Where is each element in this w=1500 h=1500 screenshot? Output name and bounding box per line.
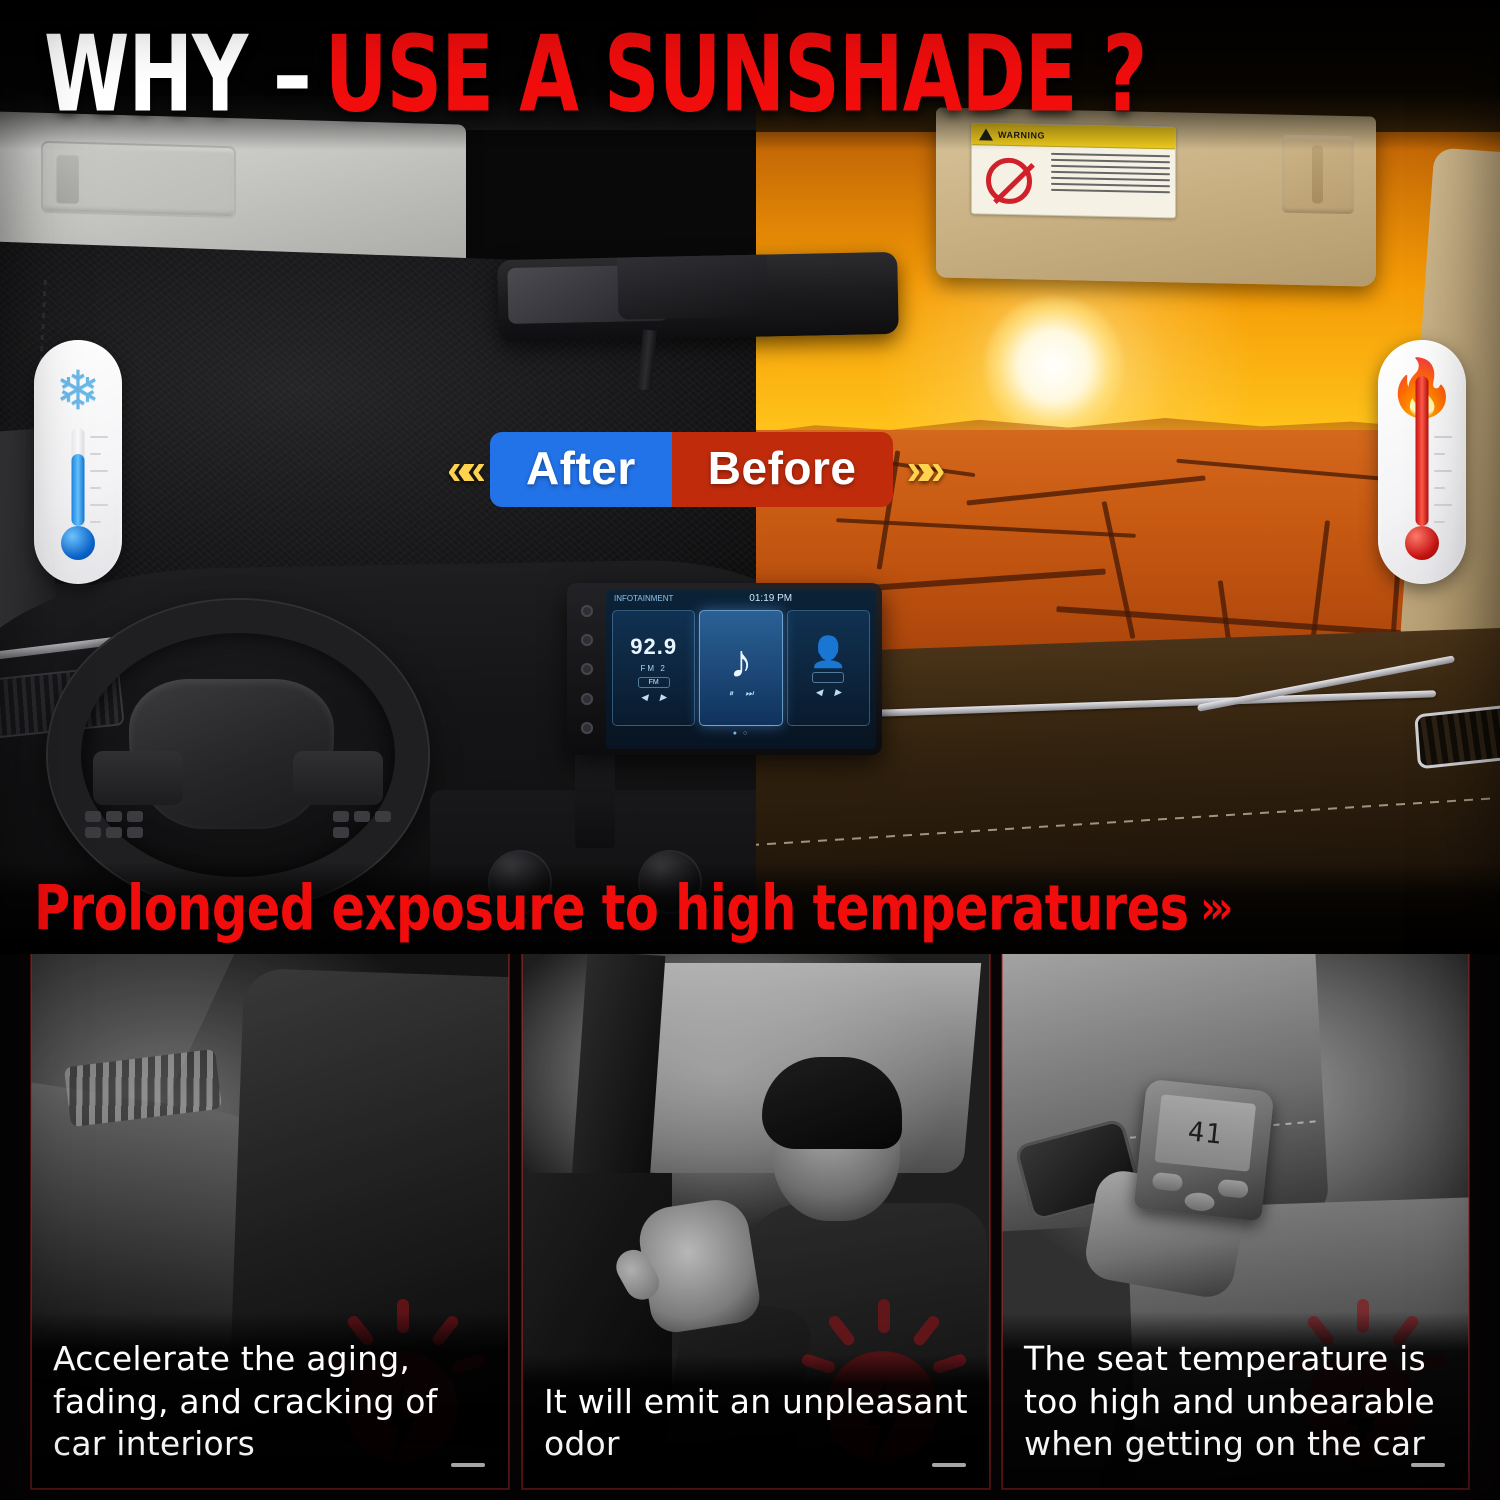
steering-buttons-right	[333, 811, 391, 838]
head-unit-mount	[575, 753, 615, 848]
person-icon: 👤	[810, 638, 847, 668]
after-badge[interactable]: After	[490, 432, 672, 507]
sun	[984, 296, 1124, 436]
head-unit-statusbar: INFOTAINMENT 01:19 PM	[606, 590, 876, 604]
cold-thermometer: ❄	[34, 340, 122, 584]
person-hand	[635, 1195, 763, 1336]
chevron-left-icon: ««	[447, 445, 490, 495]
caption-dash	[932, 1463, 966, 1467]
media-controls[interactable]: ⏸ ⏭	[729, 688, 754, 699]
phone-controls[interactable]: ◀ ▶	[815, 687, 841, 698]
media-skip-icon[interactable]: ⏭	[745, 688, 753, 699]
phone-prev-icon[interactable]: ◀	[815, 687, 822, 698]
infrared-thermometer: 41	[1134, 1079, 1275, 1222]
before-badge[interactable]: Before	[672, 432, 893, 507]
panel-seat-temperature: 41 The seat temperature is too high and …	[1001, 952, 1470, 1490]
radio-next-icon[interactable]: ▶	[660, 692, 667, 703]
thermometer-mode-button[interactable]	[1184, 1191, 1216, 1212]
hu-brand: INFOTAINMENT	[614, 594, 673, 603]
visor-mirror-cover	[41, 141, 236, 218]
radio-preset-chip[interactable]: FM	[638, 677, 670, 688]
thermometer-button-right[interactable]	[1217, 1179, 1249, 1199]
panel-aging-fading-cracking: Accelerate the aging, fading, and cracki…	[30, 952, 510, 1490]
headline: WHY – USE A SUNSHADE ?	[0, 0, 1500, 150]
hot-thermometer: 🔥	[1378, 340, 1466, 584]
air-vent-right	[1414, 698, 1500, 769]
media-card[interactable]: ♪ ⏸ ⏭	[699, 610, 782, 726]
thermometer-reading: 41	[1186, 1116, 1224, 1150]
headline-red: USE A SUNSHADE ?	[325, 14, 1147, 136]
before-after-pill[interactable]: After Before	[490, 432, 893, 507]
dashboard-stitching	[756, 797, 1496, 848]
hu-button-menu[interactable]	[581, 663, 593, 675]
thermometer-bulb-cold	[61, 526, 95, 560]
radio-card[interactable]: 92.9 FM 2 FM ◀ ▶	[612, 610, 695, 726]
media-pause-icon[interactable]: ⏸	[729, 688, 734, 699]
page-indicator-dots: ● ○	[606, 730, 876, 737]
thermometer-lcd: 41	[1154, 1094, 1256, 1172]
head-unit-side-buttons[interactable]	[574, 590, 600, 749]
chrome-trim-right-angled	[1197, 655, 1455, 712]
before-after-toggle[interactable]: «« After Before »»	[447, 432, 935, 507]
phone-chip[interactable]	[812, 672, 844, 683]
radio-prev-icon[interactable]: ◀	[641, 692, 648, 703]
no-child-seat-icon	[972, 145, 1046, 217]
sunshade-infographic-poster: WARNING	[0, 0, 1500, 1500]
headline-white: WHY –	[44, 14, 311, 136]
radio-band: FM 2	[641, 664, 667, 673]
head-unit-screen[interactable]: INFOTAINMENT 01:19 PM 92.9 FM 2 FM ◀ ▶	[606, 590, 876, 749]
subhead: Prolonged exposure to high temperatures …	[34, 872, 1227, 945]
head-unit-cards: 92.9 FM 2 FM ◀ ▶ ♪ ⏸ ⏭	[606, 604, 876, 730]
caption-dash	[451, 1463, 485, 1467]
panel-caption: Accelerate the aging, fading, and cracki…	[31, 1312, 509, 1489]
panel-caption: It will emit an unpleasant odor	[522, 1355, 990, 1489]
hu-button-home[interactable]	[581, 634, 593, 646]
thermometer-button-left[interactable]	[1152, 1172, 1184, 1192]
phone-next-icon[interactable]: ▶	[834, 687, 841, 698]
consequence-panels: Accelerate the aging, fading, and cracki…	[0, 952, 1500, 1500]
rear-view-mirror	[497, 252, 899, 342]
panel-caption: The seat temperature is too high and unb…	[1002, 1312, 1469, 1489]
phone-card[interactable]: 👤 ◀ ▶	[787, 610, 870, 726]
caption-dash	[1411, 1463, 1445, 1467]
radio-frequency: 92.9	[630, 634, 677, 660]
warning-fine-print	[1046, 147, 1175, 219]
thermometer-fill-cold	[72, 454, 85, 526]
thermometer-ticks-hot	[1434, 436, 1452, 544]
chevrons-right-icon: ›››	[1201, 882, 1227, 934]
panel-unpleasant-odor: It will emit an unpleasant odor	[521, 952, 991, 1490]
snowflake-icon: ❄	[55, 364, 100, 418]
person-hair	[762, 1057, 902, 1149]
hu-button-power[interactable]	[581, 605, 593, 617]
thermometer-ticks-cold	[90, 436, 108, 544]
steering-buttons-left	[85, 811, 143, 838]
hu-button-eject[interactable]	[581, 722, 593, 734]
warning-body	[972, 145, 1175, 218]
hu-clock: 01:19 PM	[749, 593, 792, 604]
thermometer-fill-hot	[1416, 376, 1429, 526]
steering-spoke-right	[293, 751, 383, 805]
steering-spoke-left	[93, 751, 183, 805]
radio-controls[interactable]: ◀ ▶	[641, 692, 667, 703]
hu-button-volume[interactable]	[581, 693, 593, 705]
infotainment-head-unit[interactable]: INFOTAINMENT 01:19 PM 92.9 FM 2 FM ◀ ▶	[567, 583, 882, 755]
thermometer-bulb-hot	[1405, 526, 1439, 560]
subhead-text: Prolonged exposure to high temperatures	[34, 872, 1189, 945]
chevron-right-icon: »»	[893, 445, 936, 495]
mirror-dashcam	[617, 252, 769, 320]
music-note-icon: ♪	[729, 638, 752, 684]
